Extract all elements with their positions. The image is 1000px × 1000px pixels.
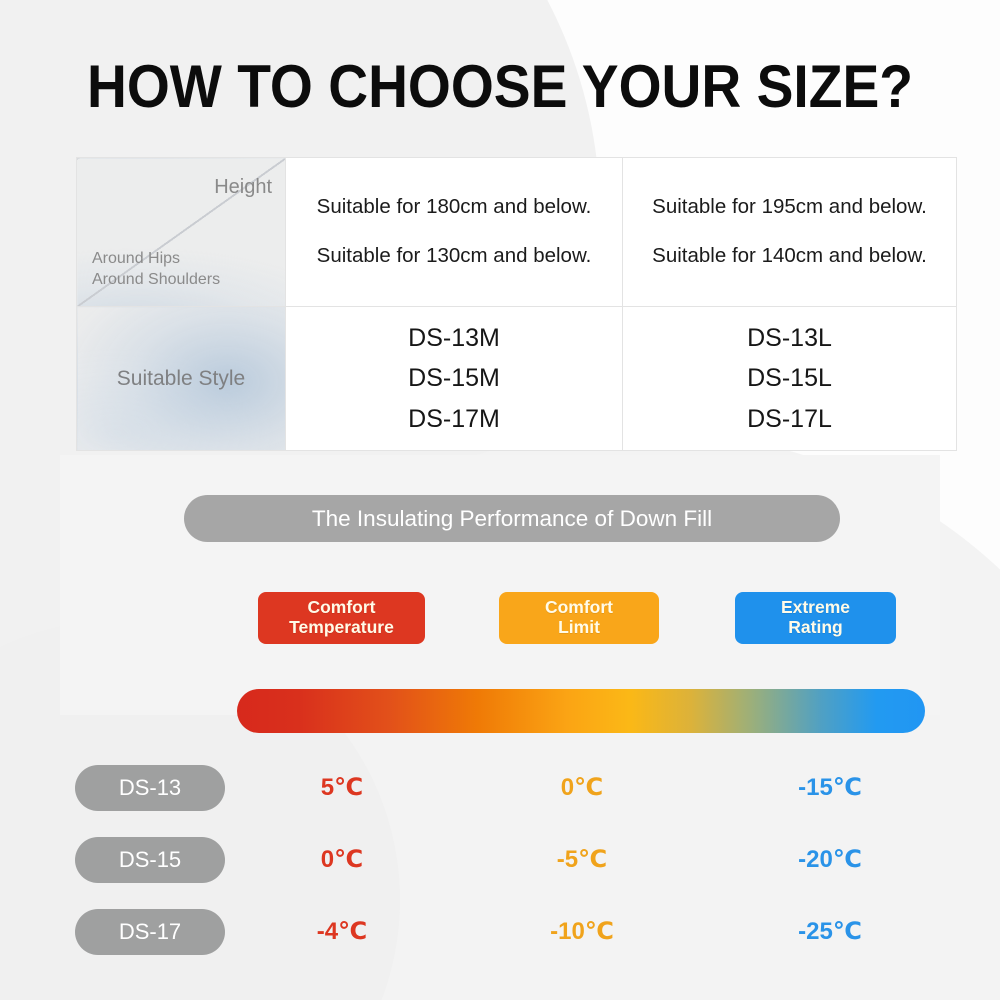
style-code-l-15: DS-15L bbox=[623, 358, 956, 399]
model-pill-ds-15: DS-15 bbox=[75, 837, 225, 883]
insulating-performance-banner: The Insulating Performance of Down Fill bbox=[184, 495, 840, 542]
badge-extreme-rating-line2: Rating bbox=[788, 618, 842, 638]
table-row: Height Around Hips Around Shoulders Suit… bbox=[77, 158, 957, 307]
background-band-middle bbox=[60, 455, 940, 715]
badge-comfort-limit-line2: Limit bbox=[558, 618, 600, 638]
suitable-style-header-cell: Suitable Style bbox=[77, 307, 286, 451]
suitable-style-label: Suitable Style bbox=[117, 367, 245, 390]
measurement-height-l: Suitable for 195cm and below. bbox=[623, 196, 956, 219]
temperature-legend: Comfort Temperature Comfort Limit Extrem… bbox=[238, 592, 924, 648]
temperature-gradient-bar bbox=[237, 689, 925, 733]
comfort-temperature-ds-17: -4℃ bbox=[272, 912, 412, 952]
model-pill-ds-17: DS-17 bbox=[75, 909, 225, 955]
header-label-height: Height bbox=[214, 176, 272, 199]
extreme-rating-ds-17: -25℃ bbox=[760, 912, 900, 952]
style-code-m-17: DS-17M bbox=[286, 399, 622, 440]
table-header-split-cell: Height Around Hips Around Shoulders bbox=[77, 158, 286, 307]
badge-comfort-temperature-line1: Comfort bbox=[307, 598, 375, 618]
size-guide-page: HOW TO CHOOSE YOUR SIZE? Height Around H… bbox=[0, 0, 1000, 1000]
table-row: DS-17 -4℃ -10℃ -25℃ bbox=[0, 906, 1000, 978]
comfort-temperature-ds-13: 5℃ bbox=[272, 768, 412, 808]
badge-comfort-temperature: Comfort Temperature bbox=[258, 592, 425, 644]
badge-comfort-temperature-line2: Temperature bbox=[289, 618, 394, 638]
style-code-l-17: DS-17L bbox=[623, 399, 956, 440]
size-table: Height Around Hips Around Shoulders Suit… bbox=[76, 157, 957, 451]
badge-extreme-rating-line1: Extreme bbox=[781, 598, 850, 618]
comfort-limit-ds-15: -5℃ bbox=[512, 840, 652, 880]
badge-comfort-limit: Comfort Limit bbox=[499, 592, 659, 644]
comfort-limit-ds-13: 0℃ bbox=[512, 768, 652, 808]
measurement-height-m: Suitable for 180cm and below. bbox=[286, 196, 622, 219]
table-row: Suitable Style DS-13M DS-15M DS-17M DS-1… bbox=[77, 307, 957, 451]
header-label-around-shoulders: Around Shoulders bbox=[92, 271, 220, 288]
measurement-cell-l: Suitable for 195cm and below. Suitable f… bbox=[623, 158, 957, 307]
comfort-temperature-ds-15: 0℃ bbox=[272, 840, 412, 880]
comfort-limit-ds-17: -10℃ bbox=[512, 912, 652, 952]
table-row: DS-15 0℃ -5℃ -20℃ bbox=[0, 834, 1000, 906]
model-pill-ds-13: DS-13 bbox=[75, 765, 225, 811]
extreme-rating-ds-13: -15℃ bbox=[760, 768, 900, 808]
header-label-measurements: Around Hips Around Shoulders bbox=[92, 248, 220, 291]
table-row: DS-13 5℃ 0℃ -15℃ bbox=[0, 762, 1000, 834]
badge-extreme-rating: Extreme Rating bbox=[735, 592, 896, 644]
temperature-rating-rows: DS-13 5℃ 0℃ -15℃ DS-15 0℃ -5℃ -20℃ DS-17… bbox=[0, 762, 1000, 978]
style-code-l-13: DS-13L bbox=[623, 318, 956, 359]
style-cell-m: DS-13M DS-15M DS-17M bbox=[286, 307, 623, 451]
extreme-rating-ds-15: -20℃ bbox=[760, 840, 900, 880]
measurement-girth-l: Suitable for 140cm and below. bbox=[623, 245, 956, 268]
measurement-girth-m: Suitable for 130cm and below. bbox=[286, 245, 622, 268]
header-label-around-hips: Around Hips bbox=[92, 250, 180, 267]
style-code-m-13: DS-13M bbox=[286, 318, 622, 359]
style-code-m-15: DS-15M bbox=[286, 358, 622, 399]
style-cell-l: DS-13L DS-15L DS-17L bbox=[623, 307, 957, 451]
page-title: HOW TO CHOOSE YOUR SIZE? bbox=[40, 52, 960, 121]
measurement-cell-m: Suitable for 180cm and below. Suitable f… bbox=[286, 158, 623, 307]
badge-comfort-limit-line1: Comfort bbox=[545, 598, 613, 618]
